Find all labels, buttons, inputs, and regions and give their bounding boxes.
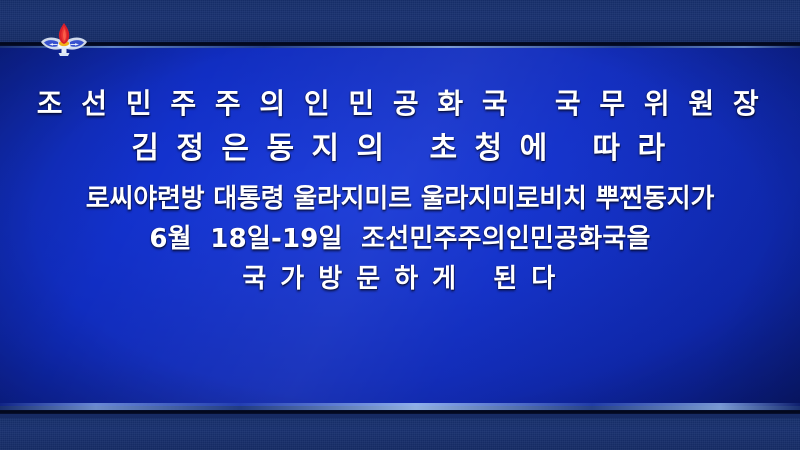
caption-line-1: 조 선 민 주 주 의 인 민 공 화 국 국 무 위 원 장: [37, 90, 763, 118]
caption-line-5: 국 가 방 문 하 게 된 다: [242, 266, 557, 292]
emblem-svg: [38, 22, 90, 62]
broadcast-screen: 조 선 민 주 주 의 인 민 공 화 국 국 무 위 원 장 김 정 은 동 …: [0, 0, 800, 450]
caption-line-4: 6월 18일-19일 조선민주주의인민공화국을: [149, 226, 650, 252]
kctv-torch-emblem: [38, 22, 90, 62]
caption-text-block: 조 선 민 주 주 의 인 민 공 화 국 국 무 위 원 장 김 정 은 동 …: [0, 48, 800, 406]
bottom-divider-rule: [0, 410, 800, 414]
caption-line-3: 로씨야련방 대통령 울라지미르 울라지미로비치 뿌찐동지가: [86, 186, 714, 212]
emblem-flame: [59, 23, 69, 44]
top-letterbox-band: [0, 0, 800, 44]
caption-line-2: 김 정 은 동 지 의 초 청 에 따 라: [131, 134, 668, 164]
bottom-letterbox-band: [0, 418, 800, 450]
